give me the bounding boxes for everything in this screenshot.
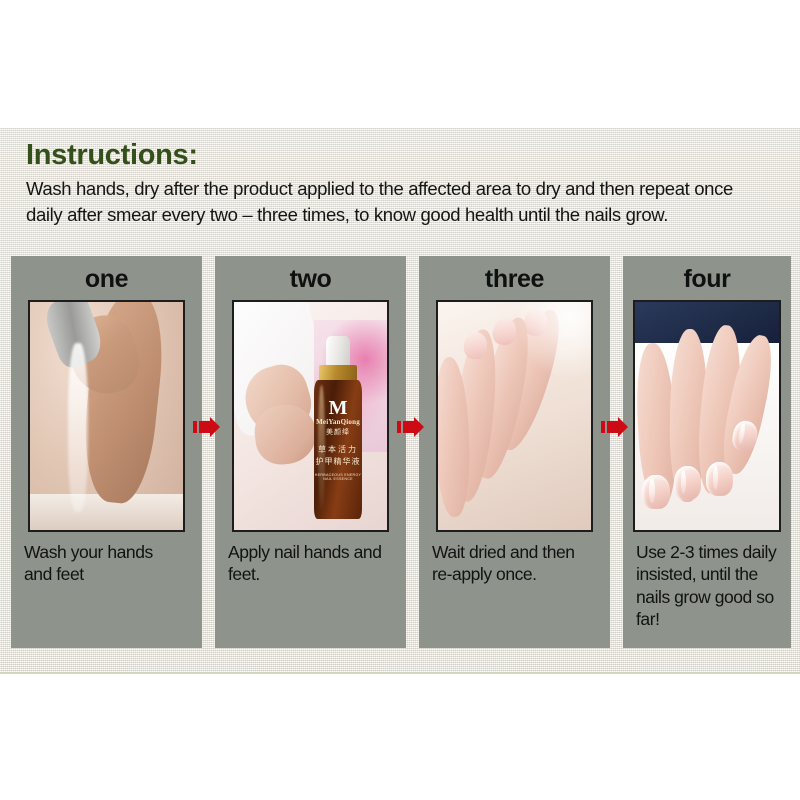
step-panel-three: three Wait dried and then re-apply once.: [419, 256, 610, 648]
bottle-body: M MeiYanQiong 美颜绛 草本活力 护甲精华液 HERBACEOUS …: [314, 380, 363, 519]
step-panel-two: two M MeiYanQiong: [215, 256, 406, 648]
instructions-paragraph: Wash hands, dry after the product applie…: [26, 176, 766, 227]
bottle-english-line-2: NAIL ESSENCE: [314, 477, 363, 481]
instructions-header: Instructions: Wash hands, dry after the …: [26, 140, 774, 227]
bottle-logo-mark: M: [314, 399, 363, 417]
step-heading-three: three: [419, 265, 610, 294]
flow-arrow-two-to-three-icon: [396, 412, 426, 442]
page-title: Instructions:: [26, 140, 774, 170]
step-image-four: [633, 300, 781, 532]
step-image-one: [28, 300, 185, 532]
step-caption-three: Wait dried and then re-apply once.: [432, 541, 592, 586]
step-heading-one: one: [11, 265, 202, 294]
flow-arrow-one-to-two-icon: [192, 412, 222, 442]
bottom-divider: [0, 672, 800, 674]
step-caption-one: Wash your hands and feet: [24, 541, 184, 586]
infographic-canvas: Instructions: Wash hands, dry after the …: [0, 0, 800, 800]
step-heading-two: two: [215, 265, 406, 294]
bottle-chinese-line-1: 草本活力: [314, 444, 363, 455]
bottle-chinese-line-2: 护甲精华液: [314, 456, 363, 467]
step-caption-four: Use 2-3 times daily insisted, until the …: [636, 541, 782, 631]
flow-arrow-three-to-four-icon: [600, 412, 630, 442]
step-panel-one: one Wash your hands and feet: [11, 256, 202, 648]
step-image-three: [436, 300, 593, 532]
bottle-brand-latin: MeiYanQiong: [314, 418, 363, 426]
steps-row: one Wash your hands and feet two: [0, 256, 800, 656]
product-bottle-illustration: M MeiYanQiong 美颜绛 草本活力 护甲精华液 HERBACEOUS …: [306, 336, 370, 518]
bottle-brand-chinese: 美颜绛: [314, 427, 363, 437]
step-image-two: M MeiYanQiong 美颜绛 草本活力 护甲精华液 HERBACEOUS …: [232, 300, 389, 532]
step-panel-four: four Use 2-3 times daily insisted, until…: [623, 256, 791, 648]
step-caption-two: Apply nail hands and feet.: [228, 541, 388, 586]
bottle-dropper-cap: [326, 336, 349, 367]
step-heading-four: four: [623, 265, 791, 294]
